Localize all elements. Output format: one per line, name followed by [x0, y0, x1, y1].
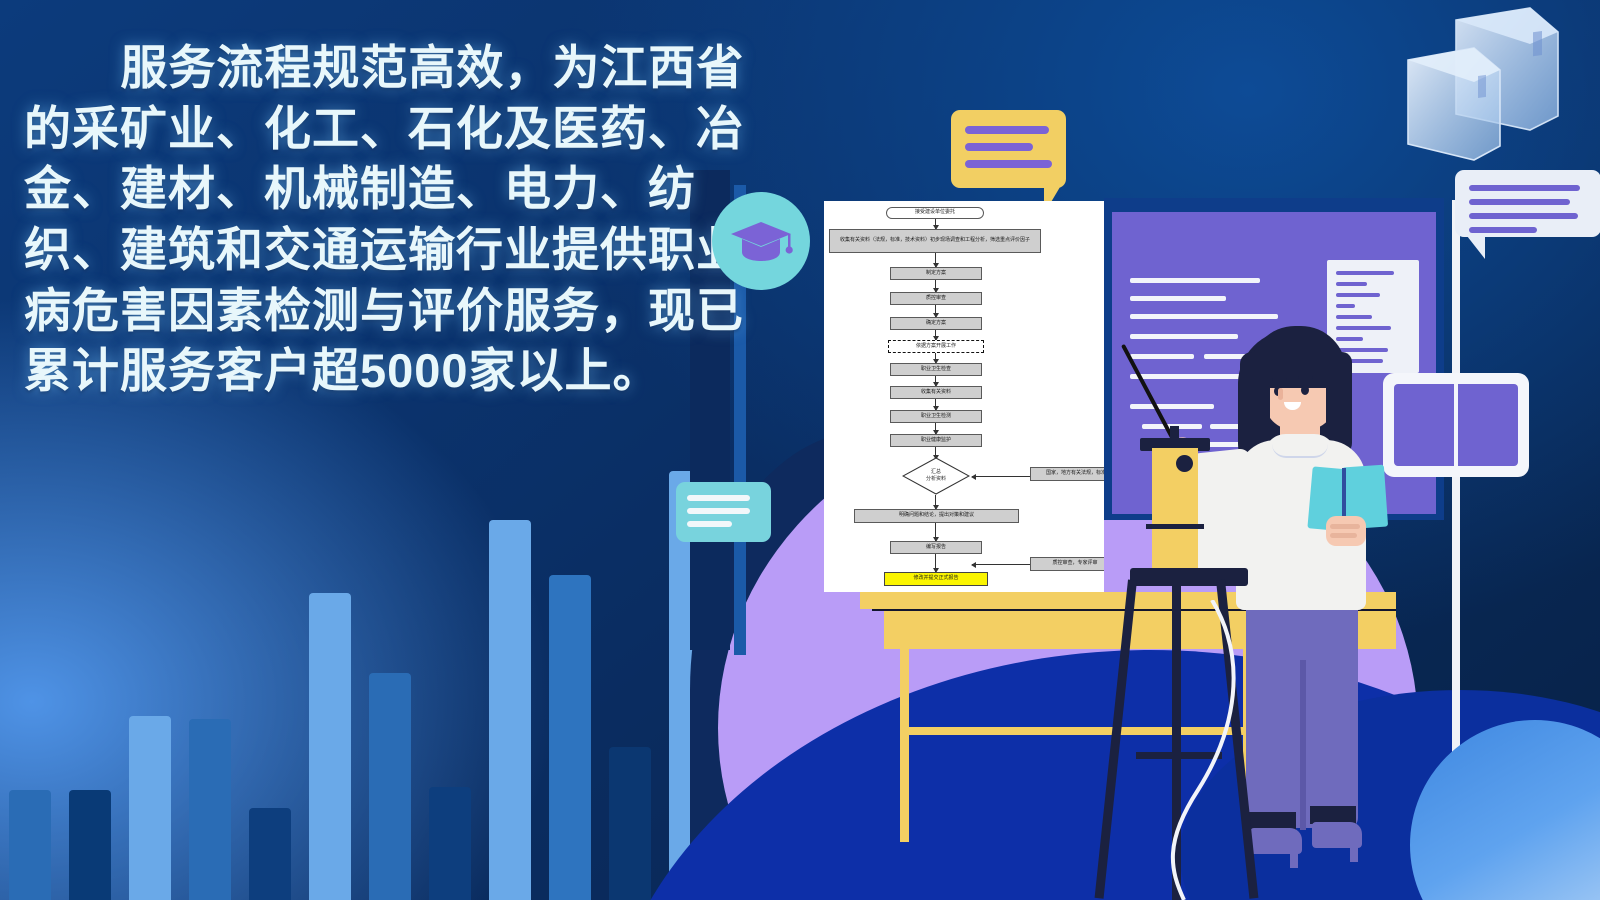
decorative-bar-chart	[0, 440, 720, 900]
flow-node-label: 汇总 分析资料	[910, 465, 962, 487]
chart-bar	[609, 747, 651, 900]
chart-bar	[369, 673, 411, 900]
person-finger	[1330, 524, 1360, 529]
chart-bar	[129, 716, 171, 900]
instrument-bracket	[1146, 524, 1204, 529]
flow-node: 职业健康监护	[890, 434, 982, 447]
person-nose	[1278, 388, 1283, 400]
chart-bar	[69, 790, 111, 900]
desk-rail	[900, 727, 1252, 735]
flow-node: 制定方案	[890, 267, 982, 280]
instrument-sensor-icon	[1176, 455, 1193, 472]
person-heel-right	[1350, 846, 1358, 862]
flow-node: 国家，地方有关法规，标准	[1030, 467, 1104, 481]
person-brow-left	[1272, 378, 1287, 381]
chart-bar	[189, 719, 231, 900]
chart-bar	[9, 790, 51, 900]
person-shoe-left	[1250, 828, 1302, 854]
flow-node: 收集有关资料（法规，标准，技术资料）初步现场调查和工程分析，筛选重点评价因子	[829, 229, 1041, 253]
flow-node: 职业卫生检查	[890, 363, 982, 376]
instrument-base	[1130, 568, 1248, 586]
person-heel-left	[1290, 852, 1298, 868]
flow-node: 接受建设单位委托	[886, 207, 984, 219]
flow-node: 编写报告	[890, 541, 982, 554]
books-stack-icon	[1378, 4, 1598, 190]
person-collar-fold	[1272, 444, 1328, 458]
flow-node: 确定方案	[890, 317, 982, 330]
chart-bar	[429, 787, 471, 900]
speech-bubble-teal	[676, 482, 771, 542]
person-brow-right	[1298, 376, 1313, 379]
flow-node: 质控审查，专家评审	[1030, 557, 1104, 571]
chart-bar	[309, 593, 351, 900]
graduation-cap-badge	[712, 192, 810, 290]
person-eye-right	[1301, 385, 1309, 395]
person-leg-split	[1300, 660, 1306, 830]
graduation-cap-icon	[729, 218, 793, 264]
chart-bar	[249, 808, 291, 900]
speech-bubble-yellow	[951, 110, 1066, 188]
flow-node: 明确问题和结论，提出对策和建议	[854, 509, 1019, 523]
flow-node: 依据方案开展工作	[888, 340, 984, 353]
book-stand	[1452, 200, 1460, 800]
flow-node: 收集有关资料	[890, 386, 982, 399]
poster-canvas: 服务流程规范高效，为江西省的采矿业、化工、石化及医药、冶金、建材、机械制造、电力…	[0, 0, 1600, 900]
flow-node: 职业卫生检测	[890, 410, 982, 423]
tripod-crossbar	[1136, 752, 1222, 759]
chart-bar	[549, 575, 591, 900]
page-title: 服务流程规范高效，为江西省的采矿业、化工、石化及医药、冶金、建材、机械制造、电力…	[24, 38, 780, 402]
tripod-leg-center	[1172, 580, 1181, 900]
person-hand-holding	[1326, 516, 1366, 546]
chart-bar	[489, 520, 531, 900]
open-book-icon	[1383, 373, 1529, 477]
workflow-flowchart: 接受建设单位委托 收集有关资料（法规，标准，技术资料）初步现场调查和工程分析，筛…	[824, 201, 1104, 592]
person-finger	[1330, 533, 1357, 538]
flow-node-highlighted: 修改并提交正式报告	[884, 572, 988, 586]
desk-leg-left	[900, 649, 909, 842]
flow-node: 质控审查	[890, 292, 982, 305]
person-shoe-right	[1312, 822, 1362, 848]
